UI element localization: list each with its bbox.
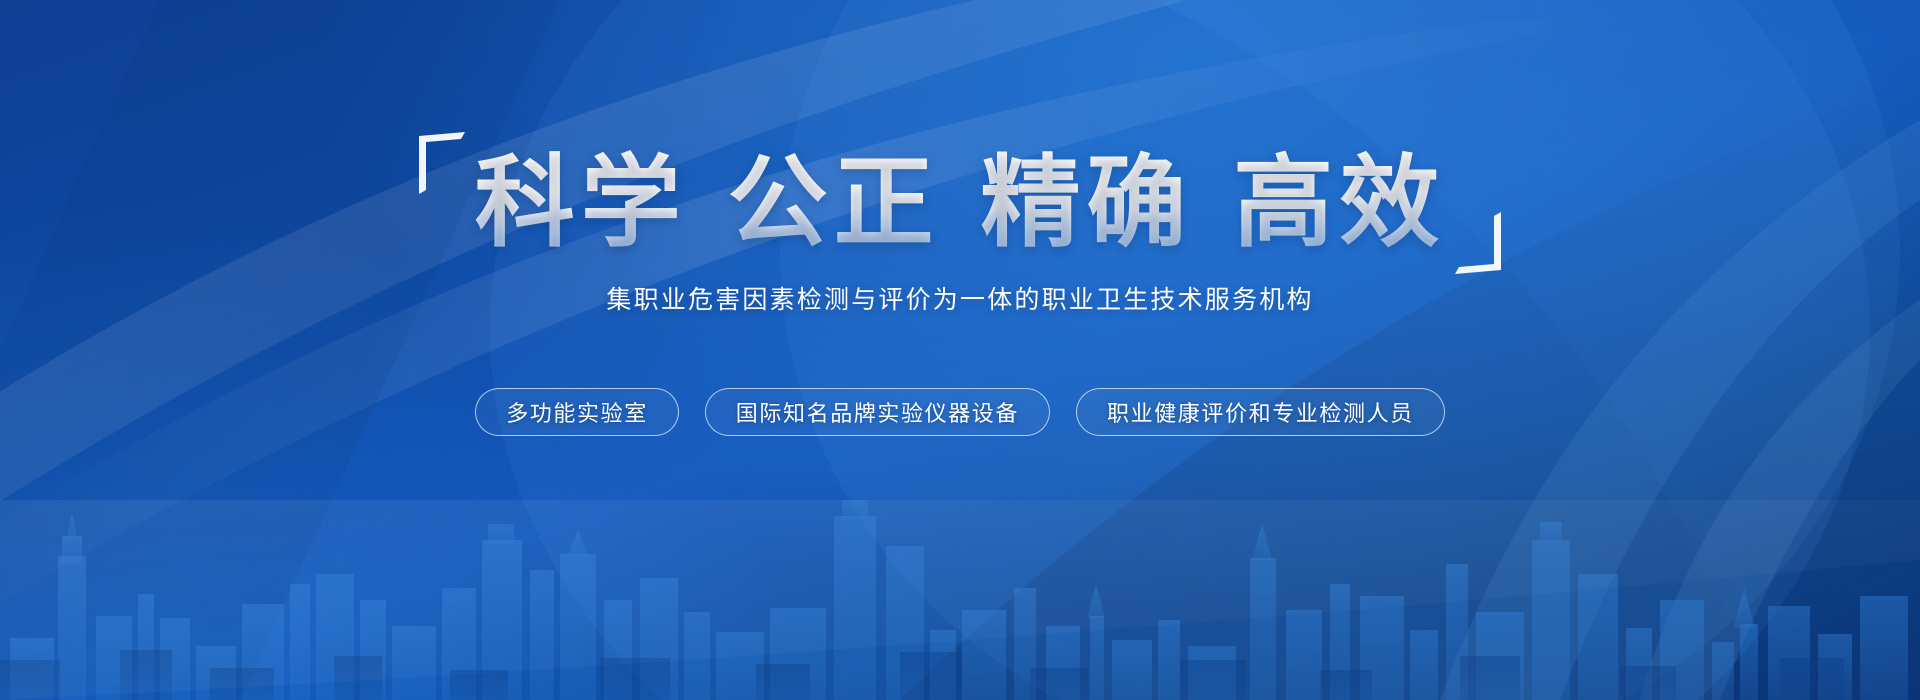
- corner-bracket-close-icon: [1455, 212, 1503, 274]
- feature-pill-lab[interactable]: 多功能实验室: [475, 388, 679, 436]
- banner-content: 科学 公正 精确 高效 集职业危害因素检测与评价为一体的职业卫生技术服务机构 多…: [0, 0, 1920, 700]
- feature-pill-staff[interactable]: 职业健康评价和专业检测人员: [1076, 388, 1445, 436]
- banner-subtitle: 集职业危害因素检测与评价为一体的职业卫生技术服务机构: [606, 280, 1313, 316]
- corner-bracket-open-icon: [417, 132, 465, 194]
- page-title: 科学 公正 精确 高效: [475, 150, 1445, 256]
- feature-pill-equipment[interactable]: 国际知名品牌实验仪器设备: [705, 388, 1050, 436]
- hero-banner: 科学 公正 精确 高效 集职业危害因素检测与评价为一体的职业卫生技术服务机构 多…: [0, 0, 1920, 700]
- feature-pill-row: 多功能实验室 国际知名品牌实验仪器设备 职业健康评价和专业检测人员: [475, 388, 1445, 436]
- headline-block: 科学 公正 精确 高效: [413, 150, 1507, 256]
